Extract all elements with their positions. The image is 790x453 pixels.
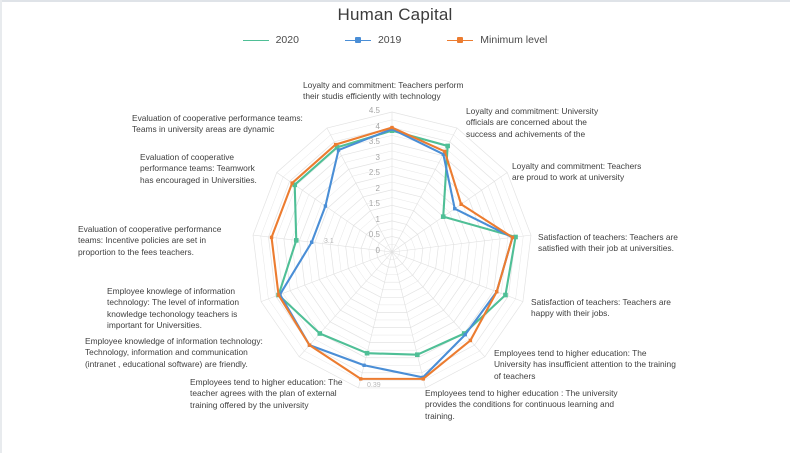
data-point bbox=[324, 204, 327, 207]
stray-tick-left: 3.1 bbox=[324, 238, 334, 245]
data-point bbox=[453, 207, 456, 210]
data-point bbox=[415, 352, 420, 357]
stray-tick-bottom: 0.39 bbox=[367, 382, 381, 389]
data-point bbox=[503, 293, 508, 298]
category-label-9: Employee knowlege of information technol… bbox=[107, 286, 307, 332]
radial-tick-3-5: 3.5 bbox=[358, 137, 380, 146]
radial-tick-4-5: 4.5 bbox=[358, 106, 380, 115]
category-label-1: Loyalty and commitment: University offic… bbox=[466, 106, 646, 140]
data-point bbox=[443, 150, 446, 153]
data-point bbox=[469, 339, 472, 342]
data-point bbox=[365, 351, 370, 356]
category-label-2: Loyalty and commitment: Teachers are pro… bbox=[512, 161, 692, 184]
radial-tick-0-5: 0.5 bbox=[358, 230, 380, 239]
data-point bbox=[334, 143, 337, 146]
category-label-8: Employee knowledge of information techno… bbox=[85, 336, 335, 370]
data-point bbox=[495, 290, 498, 293]
radial-tick-2-5: 2.5 bbox=[358, 168, 380, 177]
category-label-4: Satisfaction of teachers: Teachers are h… bbox=[531, 297, 731, 320]
data-point bbox=[459, 203, 462, 206]
data-point bbox=[362, 364, 365, 367]
data-point bbox=[422, 377, 425, 380]
category-label-3: Satisfaction of teachers: Teachers are s… bbox=[538, 232, 738, 255]
radial-tick-4: 4 bbox=[358, 122, 380, 131]
radial-tick-3: 3 bbox=[358, 153, 380, 162]
radial-tick-1: 1 bbox=[358, 215, 380, 224]
screenshot-root: Human Capital 2020 2019 Minimum level 00… bbox=[0, 0, 790, 453]
data-point bbox=[445, 144, 450, 149]
data-point bbox=[511, 236, 514, 239]
category-label-6: Employees tend to higher education : The… bbox=[425, 388, 675, 422]
radial-tick-1-5: 1.5 bbox=[358, 199, 380, 208]
data-point bbox=[464, 333, 467, 336]
category-label-0: Loyalty and commitment: Teachers perform… bbox=[303, 80, 513, 103]
radial-tick-0: 0 bbox=[358, 246, 380, 255]
radial-tick-2: 2 bbox=[358, 184, 380, 193]
category-label-11: Evaluation of cooperative performance te… bbox=[140, 152, 320, 186]
data-point bbox=[310, 241, 313, 244]
category-label-10: Evaluation of cooperative performance te… bbox=[78, 224, 278, 258]
category-label-12: Evaluation of cooperative performance te… bbox=[132, 113, 352, 136]
data-point bbox=[337, 148, 340, 151]
data-point bbox=[390, 126, 393, 129]
category-label-5: Employees tend to higher education: The … bbox=[494, 348, 754, 382]
data-point bbox=[441, 214, 446, 219]
data-point bbox=[294, 238, 299, 243]
